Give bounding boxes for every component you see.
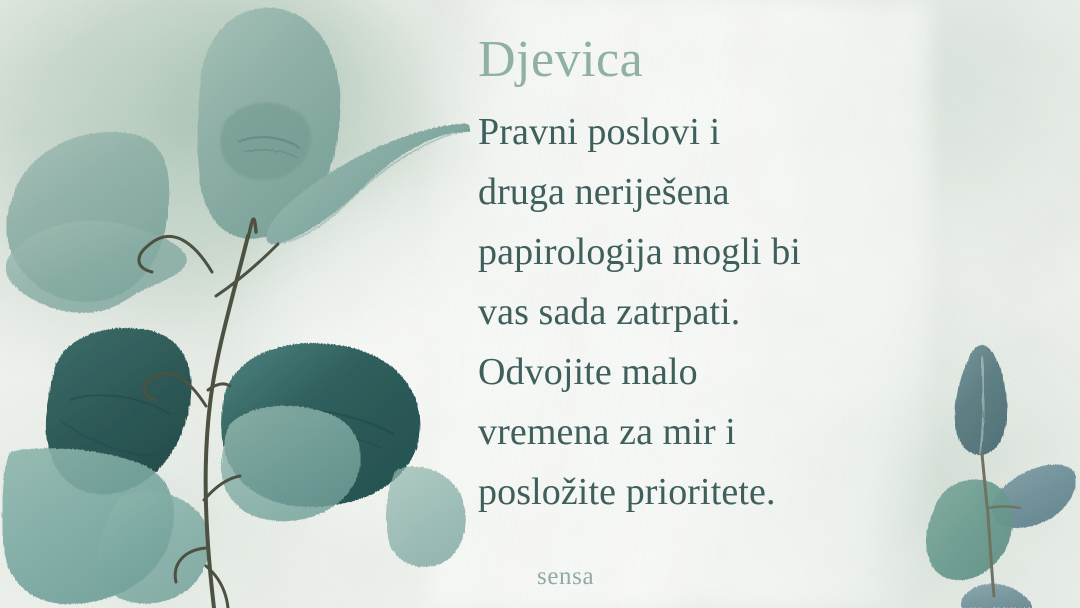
brand-logo-sensa: sensa: [537, 563, 594, 591]
zodiac-sign-title: Djevica: [478, 34, 948, 86]
horoscope-card: Djevica Pravni poslovi i druga neriješen…: [0, 0, 1080, 608]
card-text-column: Djevica Pravni poslovi i druga neriješen…: [478, 34, 948, 522]
horoscope-body-text: Pravni poslovi i druga neriješena papiro…: [478, 102, 948, 522]
